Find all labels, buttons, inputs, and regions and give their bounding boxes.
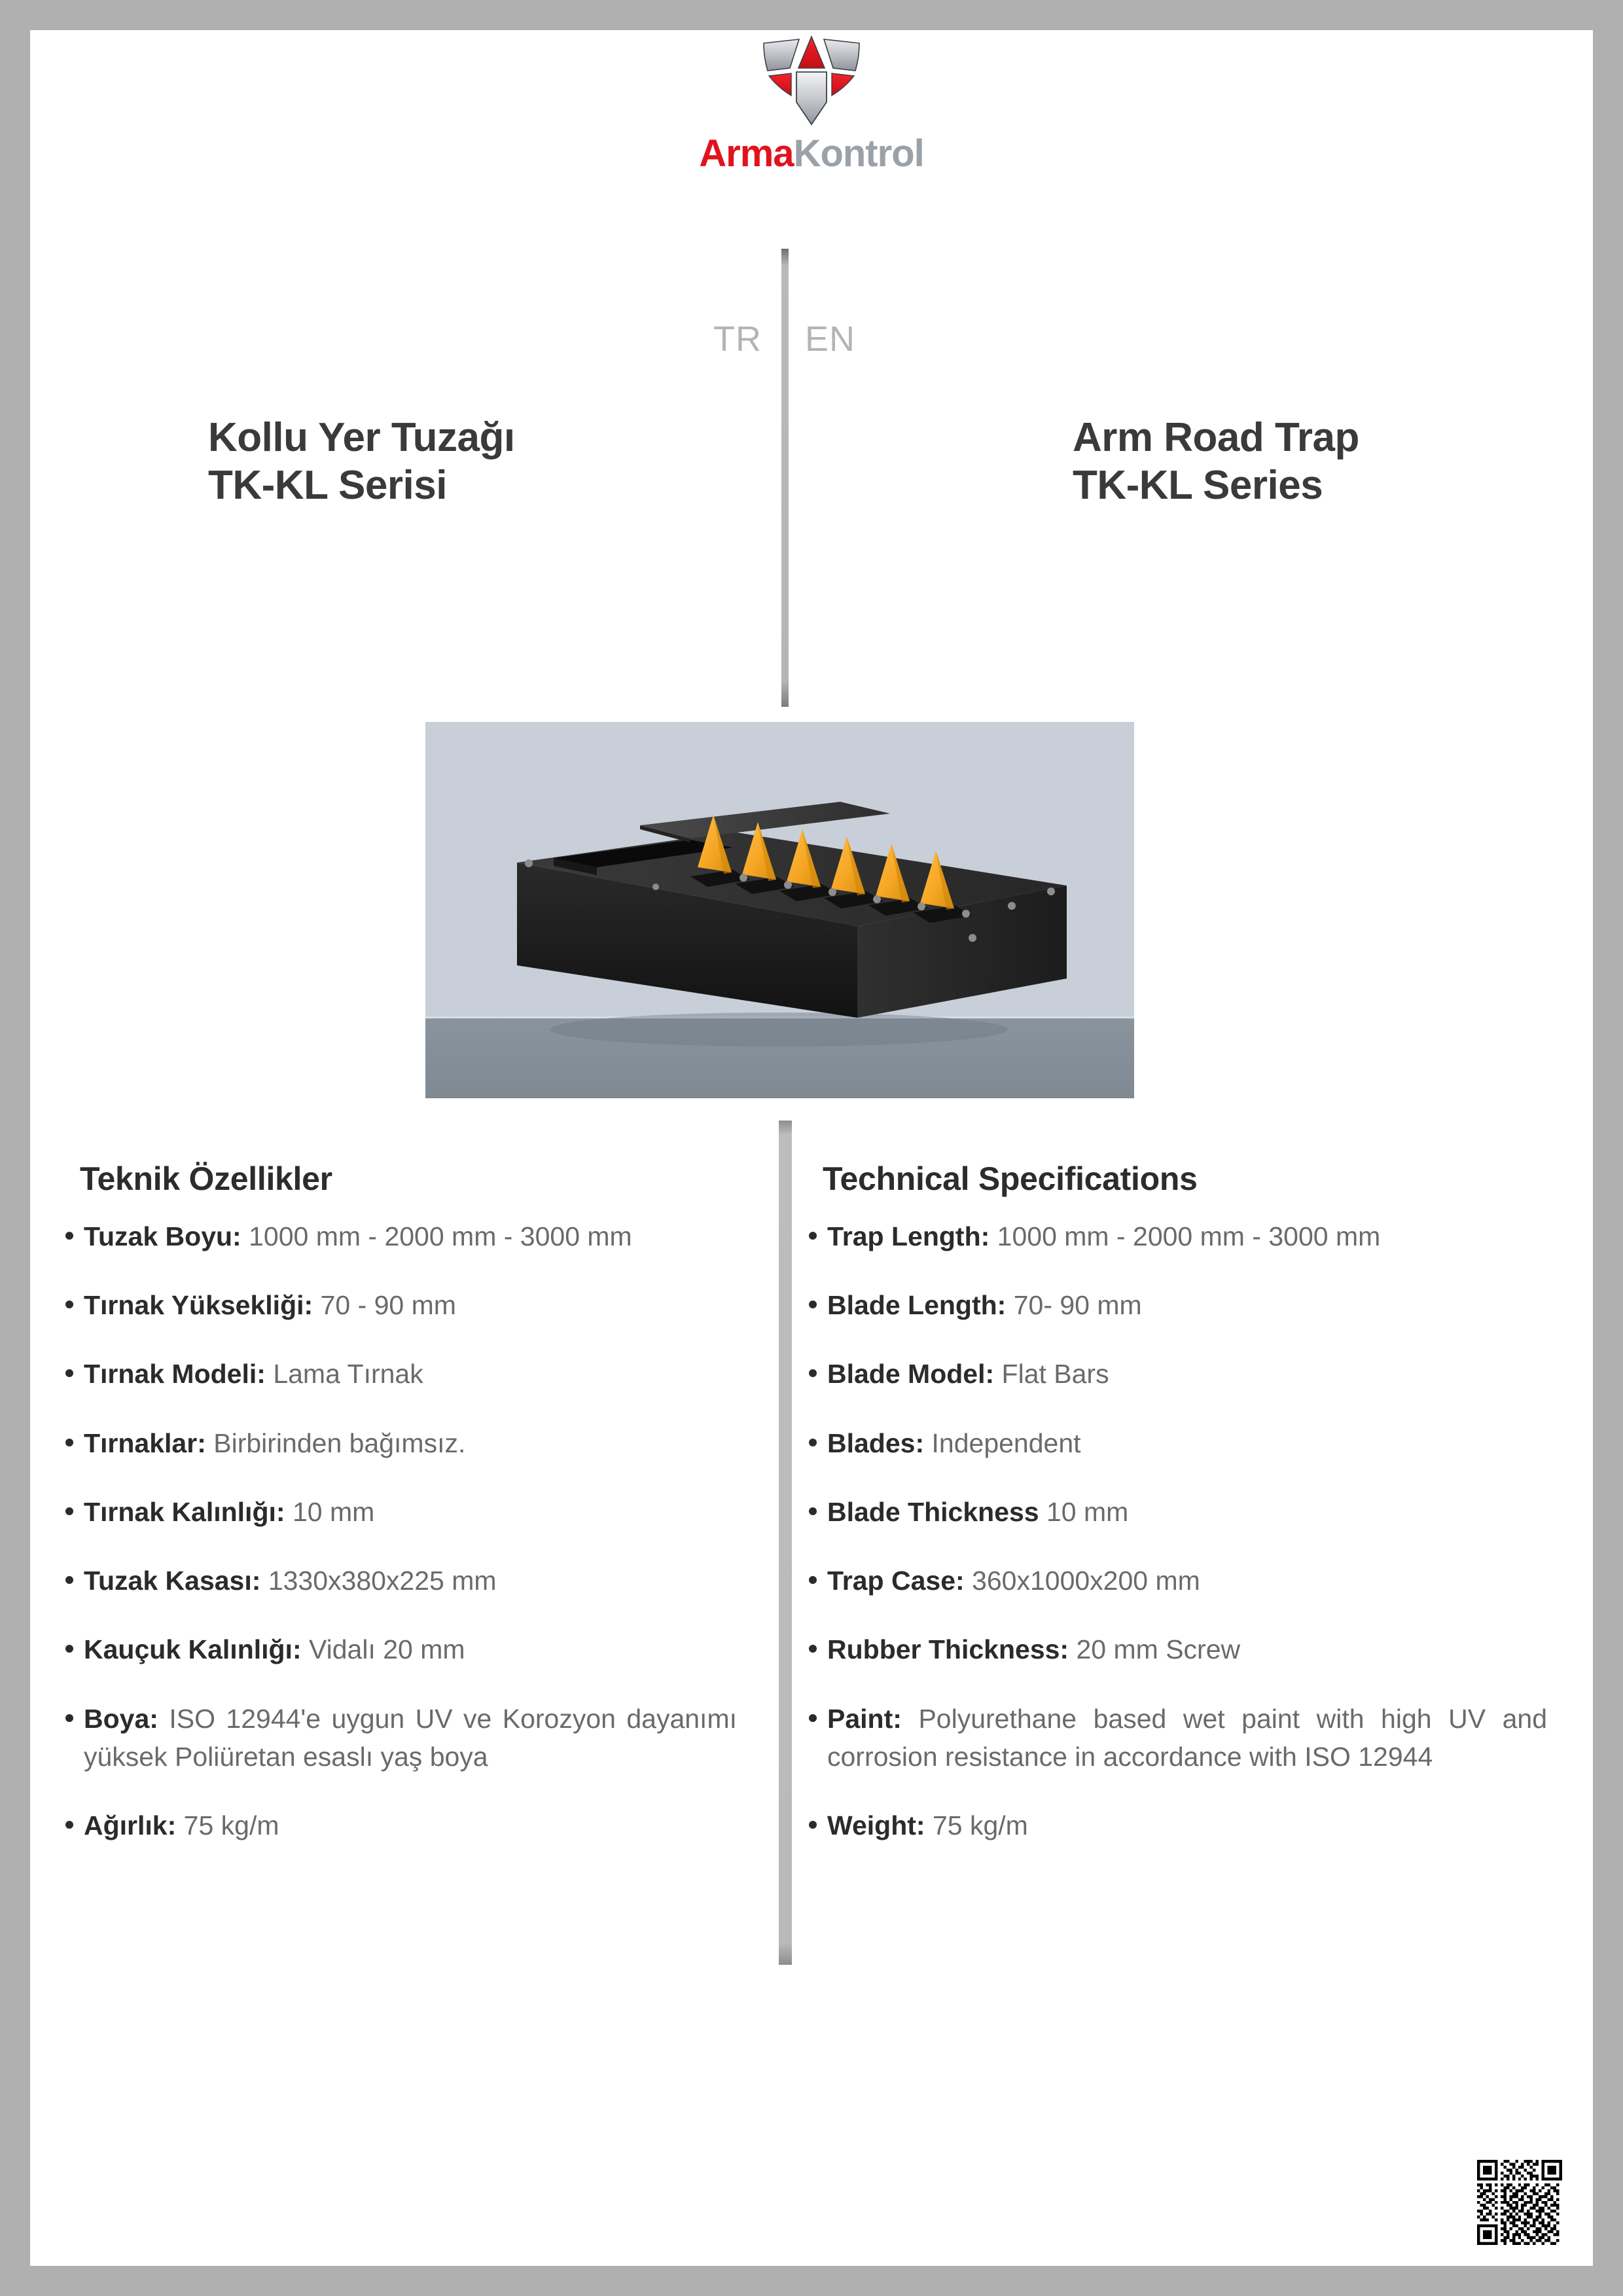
road-trap-illustration [425,722,1134,1098]
spec-item: Kauçuk Kalınlığı: Vidalı 20 mm [63,1630,737,1668]
product-title-tr: Kollu Yer Tuzağı TK-KL Serisi [208,414,515,509]
spec-label: Blade Length: [827,1290,1006,1320]
spec-label: Tuzak Kasası: [84,1566,260,1596]
page-border-right [1593,30,1623,2266]
spec-label: Blade Thickness [827,1497,1039,1527]
spec-label: Tırnak Yüksekliği: [84,1290,313,1320]
spec-value: 360x1000x200 mm [972,1566,1200,1596]
spec-label: Trap Case: [827,1566,965,1596]
spec-item: Blade Thickness 10 mm [806,1493,1547,1531]
spec-item: Tırnak Modeli: Lama Tırnak [63,1355,737,1393]
brand-wordmark: ArmaKontrol [695,135,928,173]
spec-value: 1000 mm - 2000 mm - 3000 mm [997,1221,1381,1251]
spec-item: Boya: ISO 12944'e uygun UV ve Korozyon d… [63,1700,737,1776]
spec-label: Tuzak Boyu: [84,1221,241,1251]
spec-label: Tırnaklar: [84,1428,206,1458]
spec-heading-en: Technical Specifications [823,1160,1198,1198]
tab-language-tr[interactable]: TR [713,319,762,359]
spec-value: Lama Tırnak [273,1359,423,1389]
spec-list-en: Trap Length: 1000 mm - 2000 mm - 3000 mm… [806,1217,1480,1875]
spec-item: Trap Length: 1000 mm - 2000 mm - 3000 mm [806,1217,1547,1255]
tab-language-en[interactable]: EN [805,319,855,359]
spec-value: 75 kg/m [184,1810,279,1840]
spec-label: Blades: [827,1428,924,1458]
spec-item: Paint: Polyurethane based wet paint with… [806,1700,1547,1776]
spec-item: Blade Model: Flat Bars [806,1355,1547,1393]
spec-label: Blade Model: [827,1359,994,1389]
page-border-left [0,30,30,2266]
spec-value: 20 mm Screw [1077,1634,1241,1664]
spec-item: Tırnak Yüksekliği: 70 - 90 mm [63,1286,737,1324]
brand-name-kontrol: Kontrol [794,132,924,175]
spec-label: Weight: [827,1810,925,1840]
spec-heading-tr: Teknik Özellikler [80,1160,332,1198]
spec-label: Boya: [84,1704,158,1734]
brand-logo: ArmaKontrol [695,31,928,195]
spec-item: Tuzak Kasası: 1330x380x225 mm [63,1562,737,1600]
spec-item: Rubber Thickness: 20 mm Screw [806,1630,1547,1668]
spec-label: Ağırlık: [84,1810,176,1840]
spec-value: 75 kg/m [933,1810,1028,1840]
spec-value: 1330x380x225 mm [268,1566,497,1596]
spec-value: 70 - 90 mm [321,1290,456,1320]
brand-name-arma: Arma [699,132,793,175]
vertical-divider-bottom [779,1121,792,1965]
vertical-divider-top [781,249,789,707]
spec-label: Rubber Thickness: [827,1634,1069,1664]
page-content [30,30,1593,2266]
product-title-tr-line1: Kollu Yer Tuzağı [208,415,515,460]
product-title-en: Arm Road Trap TK-KL Series [1073,414,1359,509]
spec-value: 1000 mm - 2000 mm - 3000 mm [249,1221,632,1251]
spec-value: 70- 90 mm [1014,1290,1142,1320]
spec-item: Tuzak Boyu: 1000 mm - 2000 mm - 3000 mm [63,1217,737,1255]
page-border-top [0,0,1623,30]
product-title-en-line1: Arm Road Trap [1073,415,1359,460]
product-title-en-line2: TK-KL Series [1073,461,1359,509]
spec-label: Paint: [827,1704,902,1734]
spec-value: Birbirinden bağımsız. [213,1428,465,1458]
spec-item: Weight: 75 kg/m [806,1806,1547,1844]
spec-value: Independent [932,1428,1081,1458]
spec-item: Tırnak Kalınlığı: 10 mm [63,1493,737,1531]
shield-logo-icon [751,31,872,131]
product-photo [425,722,1134,1098]
spec-label: Tırnak Kalınlığı: [84,1497,285,1527]
spec-value: 10 mm [293,1497,374,1527]
spec-list-tr: Tuzak Boyu: 1000 mm - 2000 mm - 3000 mm … [63,1217,737,1875]
spec-item: Trap Case: 360x1000x200 mm [806,1562,1547,1600]
spec-label: Tırnak Modeli: [84,1359,266,1389]
spec-label: Trap Length: [827,1221,990,1251]
spec-item: Tırnaklar: Birbirinden bağımsız. [63,1424,737,1462]
spec-value: ISO 12944'e uygun UV ve Korozyon dayanım… [84,1704,737,1772]
spec-item: Ağırlık: 75 kg/m [63,1806,737,1844]
spec-value: Polyurethane based wet paint with high U… [827,1704,1547,1772]
page-border-bottom [0,2266,1623,2296]
spec-value: Flat Bars [1002,1359,1109,1389]
datasheet-page: ArmaKontrol TR EN Kollu Yer Tuzağı TK-KL… [0,0,1623,2296]
qr-code-icon[interactable] [1477,2160,1562,2245]
spec-item: Blades: Independent [806,1424,1547,1462]
spec-value: Vidalı 20 mm [309,1634,465,1664]
spec-item: Blade Length: 70- 90 mm [806,1286,1547,1324]
spec-value: 10 mm [1046,1497,1128,1527]
product-title-tr-line2: TK-KL Serisi [208,461,515,509]
spec-label: Kauçuk Kalınlığı: [84,1634,302,1664]
